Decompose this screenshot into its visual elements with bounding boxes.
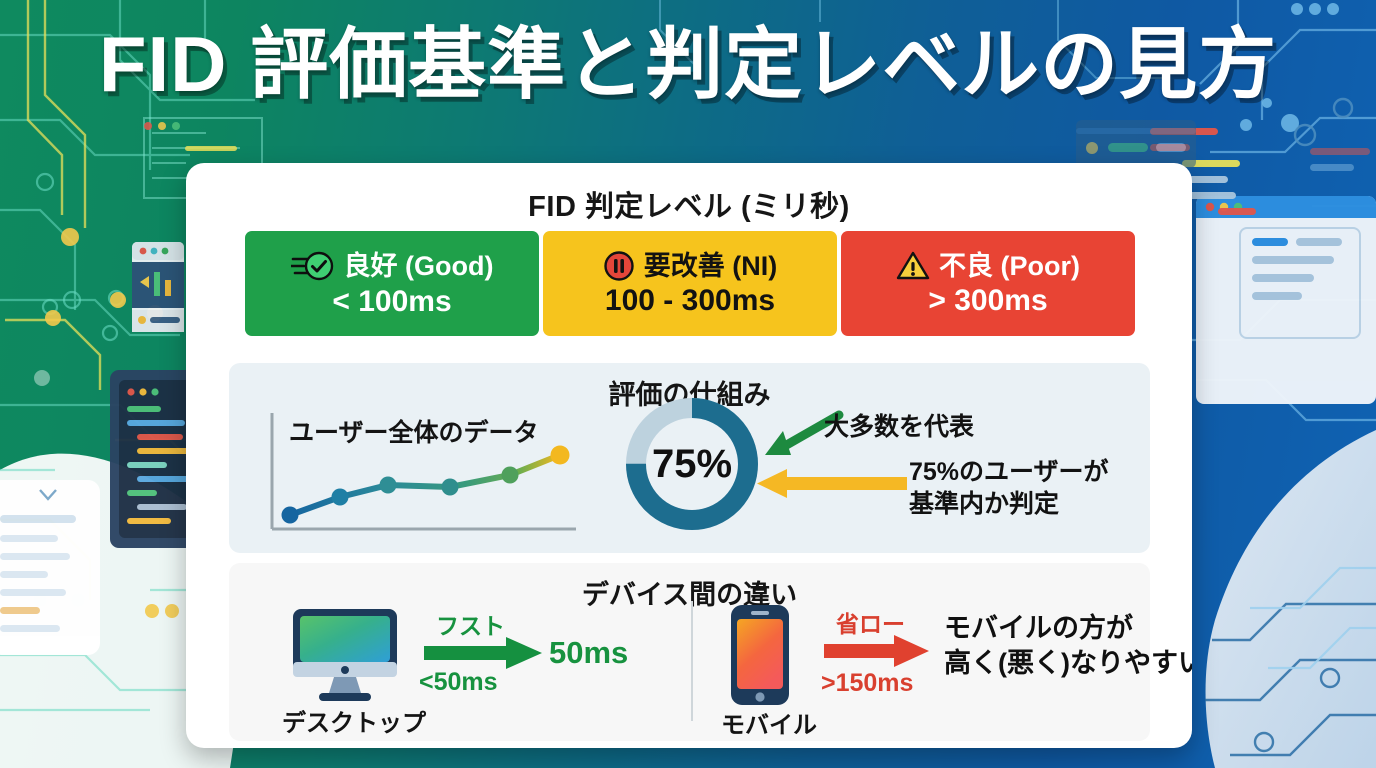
badge-range-poor: > 300ms: [928, 284, 1047, 317]
device-divider: [691, 601, 693, 721]
chart-point: [502, 467, 519, 484]
badge-range-needs-improvement: 100 - 300ms: [605, 284, 775, 317]
badge-heading-row: 不良 (Poor): [896, 250, 1080, 282]
badge-label-good: 良好 (Good): [344, 253, 494, 280]
desktop-green-arrow-icon: [424, 635, 542, 671]
annotation-majority: 大多数を代表: [824, 407, 974, 443]
badge-label-poor: 不良 (Poor): [939, 253, 1080, 280]
desktop-caption: デスクトップ: [282, 703, 426, 738]
levels-section-title: FID 判定レベル (ミリ秒): [186, 183, 1192, 225]
badge-range-good: < 100ms: [332, 285, 451, 318]
chart-point: [551, 446, 570, 465]
desktop-monitor-icon: [287, 607, 403, 708]
pause-circle-icon: [603, 250, 635, 282]
mobile-note: モバイルの方が 高く(悪く)なりやすい: [944, 611, 1192, 681]
badge-heading-row: 良好 (Good): [291, 249, 494, 283]
annotation-threshold: 75%のユーザーが 基準内か判定: [909, 456, 1109, 520]
level-badge-needs-improvement[interactable]: 要改善 (NI) 100 - 300ms: [543, 231, 837, 336]
yellow-arrow-icon: [757, 467, 907, 501]
desktop-value-label: 50ms: [549, 635, 628, 671]
annotation-threshold-line2: 基準内か判定: [909, 488, 1109, 520]
devices-panel: デバイス間の違い: [229, 563, 1150, 741]
level-badge-good[interactable]: 良好 (Good) < 100ms: [245, 231, 539, 336]
infographic-canvas: FID 評価基準と判定レベルの見方 FID 判定レベル (ミリ秒): [0, 0, 1376, 768]
mechanism-panel: 評価の仕組み: [229, 363, 1150, 553]
mobile-note-line2: 高く(悪く)なりやすい: [944, 646, 1192, 681]
main-card: FID 判定レベル (ミリ秒) 良好 (Good) < 100: [186, 163, 1192, 748]
mobile-threshold-label: >150ms: [821, 669, 913, 698]
mobile-note-line1: モバイルの方が: [944, 611, 1192, 646]
chart-point: [442, 479, 459, 496]
line-chart-caption: ユーザー全体のデータ: [289, 413, 539, 449]
chart-line: [290, 455, 560, 515]
mobile-red-arrow-icon: [824, 633, 929, 669]
badge-label-needs-improvement: 要改善 (NI): [644, 253, 777, 280]
warning-triangle-icon: [896, 250, 930, 282]
mobile-phone-icon: [729, 603, 791, 712]
mobile-caption: モバイル: [721, 705, 817, 740]
chart-point: [332, 489, 349, 506]
page-title: FID 評価基準と判定レベルの見方: [0, 22, 1376, 106]
donut-center-label: 75%: [619, 391, 765, 537]
desktop-threshold-label: <50ms: [419, 668, 498, 697]
chart-point: [282, 507, 299, 524]
badge-heading-row: 要改善 (NI): [603, 250, 777, 282]
level-badge-poor[interactable]: 不良 (Poor) > 300ms: [841, 231, 1135, 336]
check-circle-icon: [291, 249, 335, 283]
level-badge-group: 良好 (Good) < 100ms 要改善 (NI) 100 - 300ms: [245, 231, 1135, 336]
chart-point: [380, 477, 397, 494]
annotation-threshold-line1: 75%のユーザーが: [909, 456, 1109, 488]
